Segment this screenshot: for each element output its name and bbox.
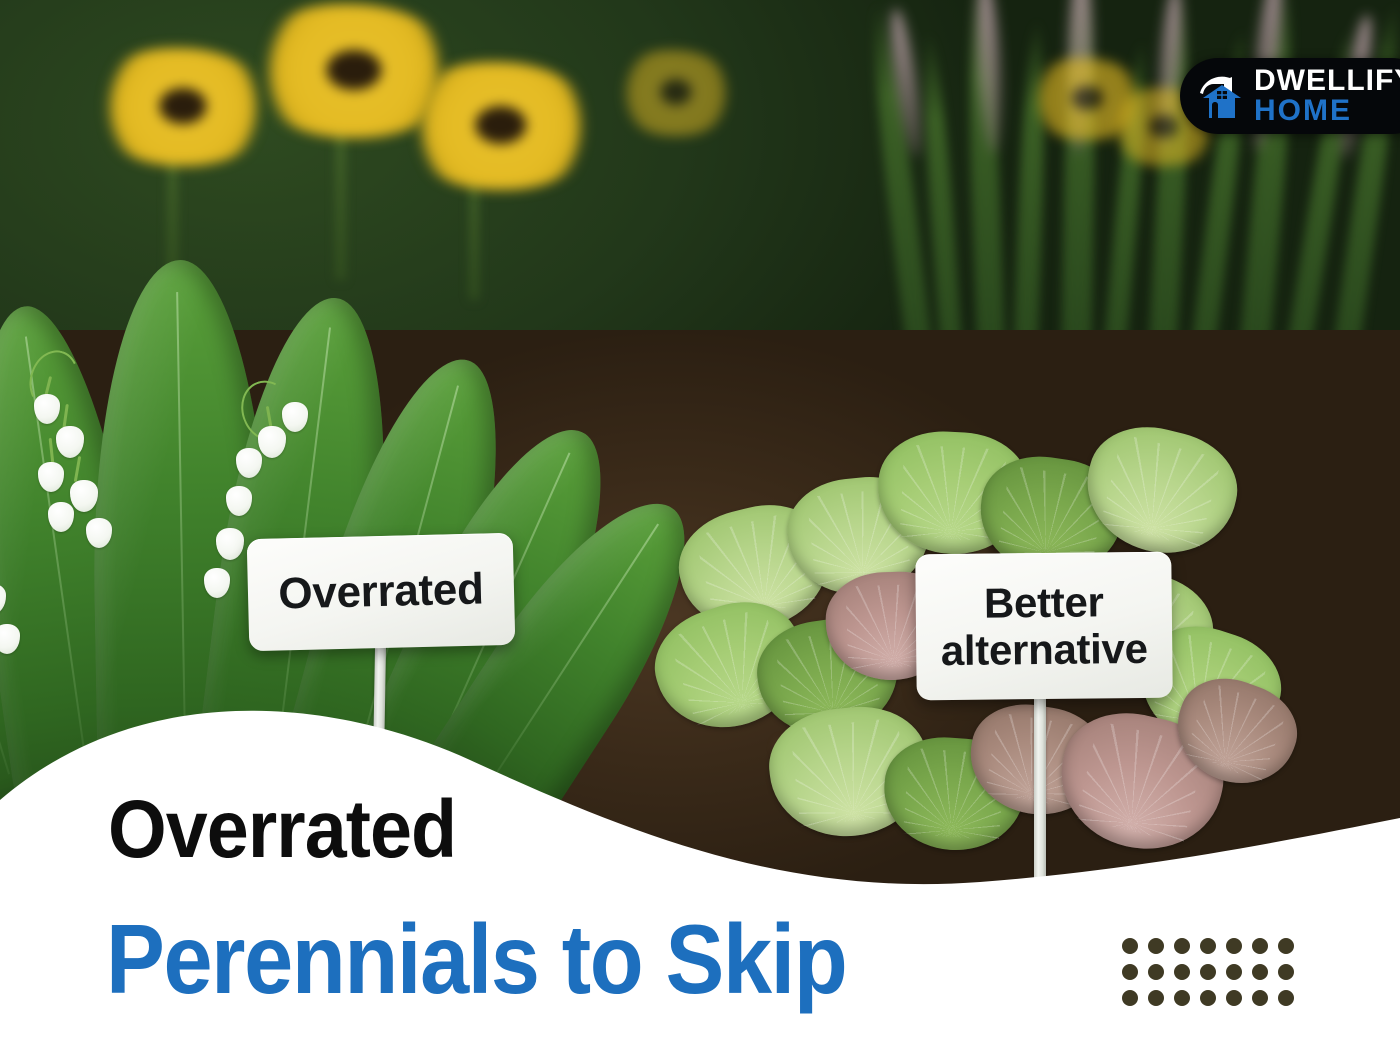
- dot: [1122, 964, 1138, 980]
- dot: [1174, 990, 1190, 1006]
- dot: [1174, 938, 1190, 954]
- sign-label-line-1: Better: [984, 578, 1104, 626]
- dot: [1122, 990, 1138, 1006]
- overrated-sign-label: Overrated: [278, 565, 484, 620]
- dot: [1200, 964, 1216, 980]
- dot: [1278, 990, 1294, 1006]
- dot: [1174, 964, 1190, 980]
- page-title-line-1: Overrated: [108, 783, 456, 877]
- dot: [1278, 964, 1294, 980]
- better-alternative-sign[interactable]: Better alternative: [915, 552, 1173, 701]
- dot: [1148, 964, 1164, 980]
- dot: [1252, 938, 1268, 954]
- overrated-sign[interactable]: Overrated: [247, 533, 516, 651]
- dot-grid-decoration: [1122, 938, 1294, 1006]
- brand-logo[interactable]: DWELLIFY HOME: [1180, 58, 1400, 134]
- logo-text-secondary: HOME: [1254, 97, 1400, 126]
- dot: [1252, 964, 1268, 980]
- dot: [1200, 938, 1216, 954]
- sign-label-line-2: alternative: [941, 625, 1148, 674]
- dot: [1226, 964, 1242, 980]
- logo-wordmark: DWELLIFY HOME: [1254, 67, 1400, 125]
- dot: [1122, 938, 1138, 954]
- logo-text-primary: DWELLIFY: [1254, 67, 1400, 96]
- dot: [1148, 990, 1164, 1006]
- dot: [1252, 990, 1268, 1006]
- page-title-line-2: Perennials to Skip: [106, 903, 846, 1016]
- poster-canvas: Overrated Better alternative Overrated P…: [0, 0, 1400, 1050]
- better-alternative-sign-label: Better alternative: [940, 578, 1148, 674]
- dot: [1226, 990, 1242, 1006]
- dot: [1278, 938, 1294, 954]
- dot: [1226, 938, 1242, 954]
- dot: [1200, 990, 1216, 1006]
- house-logo-icon: [1194, 67, 1252, 125]
- dot: [1148, 938, 1164, 954]
